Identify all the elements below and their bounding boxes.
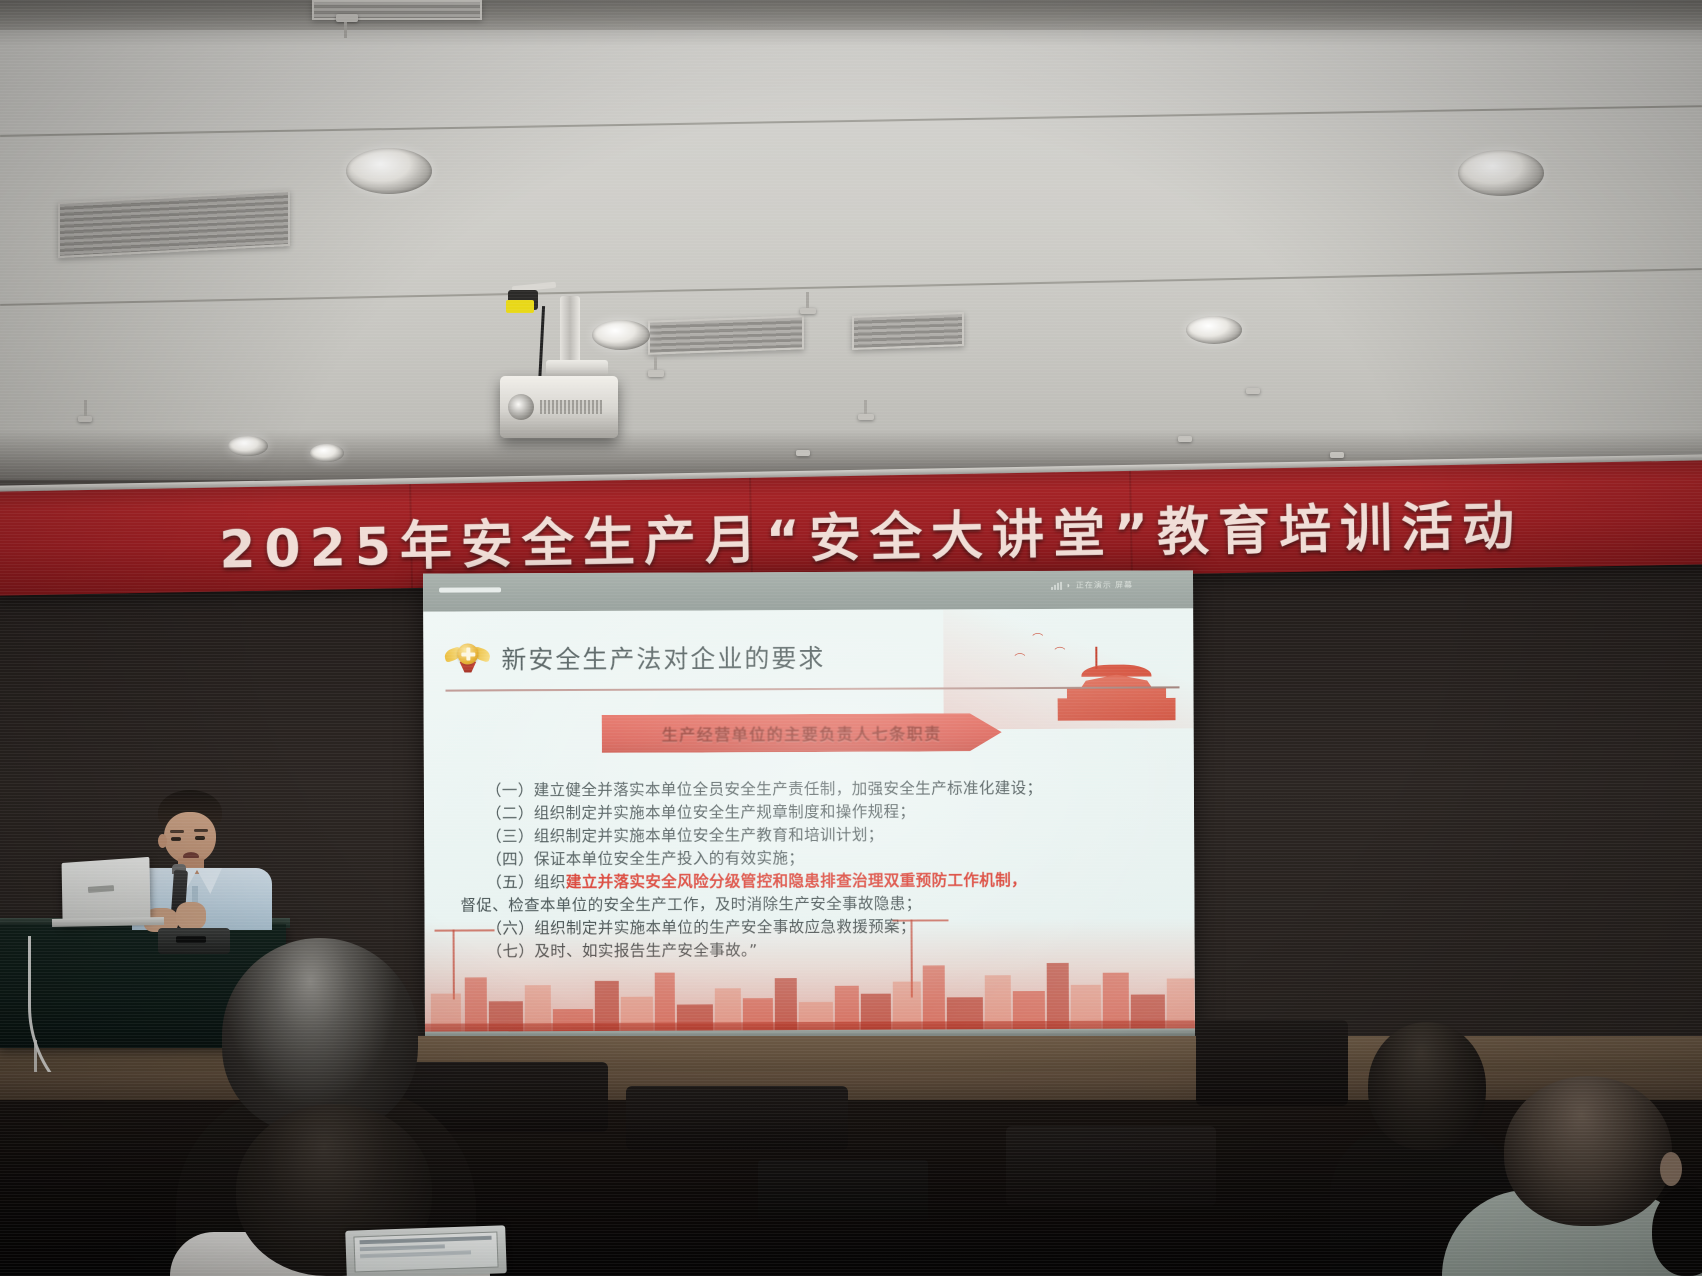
ceiling-seam xyxy=(0,268,1702,306)
photo-scene: 2025年安全生产月“安全大讲堂”教育培训活动 ◗ 正在演示 屏幕 ︵ ︵ ︵ xyxy=(0,0,1702,1276)
safety-production-emblem-icon xyxy=(445,640,489,676)
audience-member-head xyxy=(1368,1022,1486,1150)
slide-list-item-text: 督促、检查本单位的安全生产工作，及时消除生产安全事故隐患； xyxy=(460,895,921,915)
sprinkler-head-icon xyxy=(800,308,816,314)
camera-label-sticker xyxy=(506,300,534,313)
slide-list-item: （一）建立健全并落实本单位全员安全生产责任制，加强安全生产标准化建设； xyxy=(460,776,1176,802)
ceiling-downlight xyxy=(346,148,432,194)
slide-title: 新安全生产法对企业的要求 xyxy=(501,639,825,676)
ceiling-downlight xyxy=(228,436,268,456)
audience-member-head xyxy=(1504,1076,1672,1226)
city-silhouette-decoration xyxy=(425,918,1196,1039)
ceiling xyxy=(0,0,1702,480)
ceiling-shadow xyxy=(0,0,1702,46)
status-bar-right: ◗ 正在演示 屏幕 xyxy=(1051,580,1133,591)
audience-laptop[interactable] xyxy=(345,1225,507,1276)
sprinkler-head-icon xyxy=(796,450,810,456)
slide-list-item-text: 组织制定并实施本单位安全生产规章制度和操作规程； xyxy=(534,803,916,823)
slide-list-item: （四）保证本单位安全生产投入的有效实施； xyxy=(460,845,1176,871)
ceiling-downlight xyxy=(1458,150,1544,196)
ceiling-downlight xyxy=(592,320,650,350)
slide-list-item-marker: （一） xyxy=(486,781,534,799)
slide-list-item-highlight: 建立并落实安全风险分级管控和隐患排查治理双重预防工作机制， xyxy=(566,871,1027,891)
sprinkler-head-icon xyxy=(78,416,92,422)
slide-list-item: （二）组织制定并实施本单位安全生产规章制度和操作规程； xyxy=(460,799,1176,825)
air-vent-icon xyxy=(58,190,290,258)
sprinkler-stem xyxy=(864,400,867,414)
ceiling-downlight xyxy=(310,444,344,462)
slide-list-item: （五）组织建立并落实安全风险分级管控和隐患排查治理双重预防工作机制， xyxy=(460,868,1176,894)
slide-list-item: （三）组织制定并实施本单位安全生产教育和培训计划； xyxy=(460,822,1176,848)
chair[interactable] xyxy=(1006,1126,1216,1206)
presenter-ear xyxy=(158,834,167,848)
slide-list-item: 督促、检查本单位的安全生产工作，及时消除生产安全事故隐患； xyxy=(460,891,1176,917)
audience-laptop[interactable] xyxy=(758,1160,928,1220)
signal-bars-icon xyxy=(1051,581,1062,589)
status-bar-label: 正在演示 屏幕 xyxy=(1076,580,1133,591)
sprinkler-head-icon xyxy=(1178,436,1192,442)
arrow-banner: 生产经营单位的主要负责人七条职责 xyxy=(602,713,1002,753)
sprinkler-head-icon xyxy=(858,414,874,420)
projector-vent xyxy=(540,400,602,414)
sprinkler-stem xyxy=(654,356,657,370)
chair[interactable] xyxy=(1196,1020,1348,1106)
arrow-banner-text: 生产经营单位的主要负责人七条职责 xyxy=(662,720,942,745)
sprinkler-head-icon xyxy=(648,370,664,377)
slide-list-item-text: 组织制定并实施本单位安全生产教育和培训计划； xyxy=(534,826,884,846)
slide-list-item-text: 保证本单位安全生产投入的有效实施； xyxy=(534,849,804,868)
laptop-screen xyxy=(353,1231,498,1272)
sprinkler-head-icon xyxy=(1246,388,1260,394)
sprinkler-head-icon xyxy=(1330,452,1344,458)
presenter-right-hand xyxy=(176,902,206,930)
sprinkler-stem xyxy=(344,22,347,38)
air-vent-icon xyxy=(852,312,964,350)
slide-list-item-text: 建立健全并落实本单位全员安全生产责任制，加强安全生产标准化建设； xyxy=(534,779,1043,799)
slide-title-row: 新安全生产法对企业的要求 xyxy=(445,626,1171,687)
projection-screen: ◗ 正在演示 屏幕 ︵ ︵ ︵ xyxy=(423,570,1195,1039)
air-vent-icon xyxy=(648,315,804,354)
sprinkler-stem xyxy=(84,400,87,416)
slide-list-item-marker: （五） xyxy=(486,873,534,891)
slide-list-item-marker: （四） xyxy=(486,850,534,868)
window-tab-indicator xyxy=(439,587,501,592)
sprinkler-stem xyxy=(806,292,809,308)
ceiling-seam xyxy=(0,105,1702,137)
slide-canvas: ︵ ︵ ︵ 新安全生产法对企业的要求 生产经营单位的主要 xyxy=(423,608,1195,1039)
slide-list-item-marker: （二） xyxy=(486,804,534,822)
sprinkler-head-icon xyxy=(336,14,358,22)
wifi-icon: ◗ xyxy=(1066,581,1072,590)
presenter xyxy=(128,790,278,930)
slide-list-item-marker: （三） xyxy=(486,827,534,845)
slide-list-item-text: 组织 xyxy=(534,873,566,891)
chair[interactable] xyxy=(626,1086,848,1150)
presentation-status-bar: ◗ 正在演示 屏幕 xyxy=(423,570,1193,611)
ceiling-downlight xyxy=(1186,316,1242,344)
audience-member-ear xyxy=(1660,1152,1682,1186)
projector-lens-icon xyxy=(508,394,534,420)
